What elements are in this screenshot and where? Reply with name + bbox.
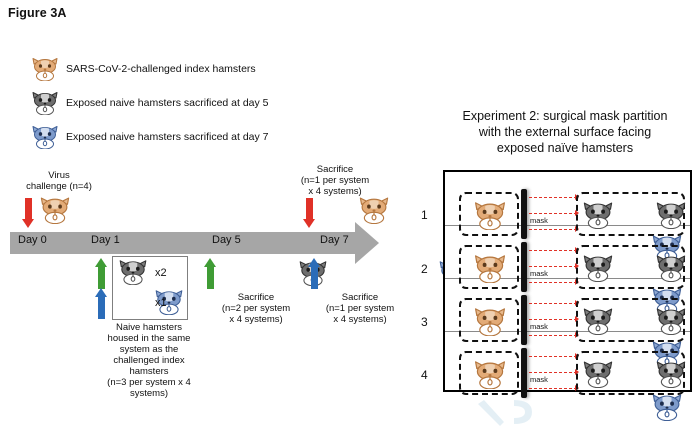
legend-item-day5: Exposed naive hamsters sacrificed at day… (30, 90, 269, 116)
hamster-gray-icon (654, 360, 688, 388)
hamster-orange-icon (472, 201, 508, 230)
row-number-2: 2 (421, 262, 428, 276)
airflow-arrow (529, 266, 577, 267)
row-number-1: 1 (421, 208, 428, 222)
timeline-bar (10, 232, 358, 254)
day1-group-box: x2 x1 (112, 256, 188, 320)
timeline-day-1: Day 1 (91, 234, 120, 246)
hamster-gray-icon (117, 259, 149, 285)
hamster-gray-icon (654, 201, 688, 229)
mask-partition (521, 242, 527, 292)
row-number-4: 4 (421, 368, 428, 382)
airflow-arrow (529, 197, 577, 198)
day7-top-caption: Sacrifice (n=1 per system x 4 systems) (275, 164, 395, 197)
hamster-blue-icon (650, 393, 684, 421)
airflow-arrow (529, 250, 577, 251)
mask-label: mask (530, 269, 548, 278)
mask-partition (521, 348, 527, 398)
hamster-orange-icon (38, 196, 72, 224)
day1-caption: Naive hamsters housed in the same system… (91, 322, 207, 399)
hamster-gray-icon (30, 91, 60, 115)
airflow-arrow (529, 335, 577, 336)
legend-item-label: Exposed naive hamsters sacrificed at day… (66, 97, 269, 109)
airflow-arrow (529, 213, 577, 214)
row-number-3: 3 (421, 315, 428, 329)
day5-green-up-arrow (204, 258, 217, 290)
index-cage (459, 245, 519, 289)
airflow-arrow (529, 356, 577, 357)
day5-caption: Sacrifice (n=2 per system x 4 systems) (196, 292, 316, 325)
hamster-orange-icon (472, 307, 508, 336)
index-cage (459, 192, 519, 236)
timeline-day-0: Day 0 (18, 234, 47, 246)
legend-item-day7: Exposed naive hamsters sacrificed at day… (30, 124, 269, 150)
timeline-arrowhead (355, 222, 379, 264)
index-cage (459, 298, 519, 342)
legend-item-label: SARS-CoV-2-challenged index hamsters (66, 63, 256, 75)
cage-row: mask (445, 300, 694, 346)
airflow-arrow (529, 388, 577, 389)
hamster-blue-icon (30, 125, 60, 149)
cage-row: mask (445, 247, 694, 293)
watermark-logo (470, 396, 590, 428)
airflow-arrow (529, 229, 577, 230)
airflow-arrow (529, 282, 577, 283)
naive-cage (576, 351, 685, 395)
timeline: Virus challenge (n=4) Sacrifice (n=1 per… (0, 170, 420, 410)
mask-partition (521, 189, 527, 239)
mask-label: mask (530, 375, 548, 384)
timeline-day-7: Day 7 (320, 234, 349, 246)
naive-cage (576, 298, 685, 342)
day1-blue-up-arrow (95, 288, 108, 320)
day0-red-down-arrow (22, 198, 35, 230)
day7-red-down-arrow (303, 198, 316, 230)
legend-item-label: Exposed naive hamsters sacrificed at day… (66, 131, 269, 143)
hamster-gray-icon (581, 307, 615, 335)
naive-cage (576, 192, 685, 236)
naive-cage (576, 245, 685, 289)
day0-caption: Virus challenge (n=4) (14, 170, 104, 192)
hamster-gray-icon (654, 307, 688, 335)
mask-label: mask (530, 322, 548, 331)
hamster-gray-icon (581, 360, 615, 388)
day1-gray-multiplier: x2 (155, 267, 167, 279)
day1-green-up-arrow (95, 258, 108, 290)
experiment-title: Experiment 2: surgical mask partition wi… (432, 108, 698, 156)
hamster-gray-icon (654, 254, 688, 282)
legend-item-index: SARS-CoV-2-challenged index hamsters (30, 56, 269, 82)
experiment-panel: mask (443, 170, 692, 392)
hamster-orange-icon (357, 196, 391, 224)
cage-row: mask (445, 194, 694, 240)
hamster-gray-icon (581, 201, 615, 229)
airflow-arrow (529, 372, 577, 373)
hamster-orange-icon (472, 360, 508, 389)
airflow-arrow (529, 319, 577, 320)
legend: SARS-CoV-2-challenged index hamsters Exp… (30, 56, 269, 158)
airflow-arrow (529, 303, 577, 304)
hamster-gray-icon (581, 254, 615, 282)
hamster-orange-icon (30, 57, 60, 81)
cage-row: mask (445, 353, 694, 399)
day1-blue-multiplier: x1 (155, 297, 167, 309)
figure-title: Figure 3A (8, 6, 67, 20)
timeline-day-5: Day 5 (212, 234, 241, 246)
day7-blue-up-arrow (308, 258, 321, 290)
mask-label: mask (530, 216, 548, 225)
day7-bottom-caption: Sacrifice (n=1 per system x 4 systems) (300, 292, 420, 325)
index-cage (459, 351, 519, 395)
hamster-orange-icon (472, 254, 508, 283)
mask-partition (521, 295, 527, 345)
